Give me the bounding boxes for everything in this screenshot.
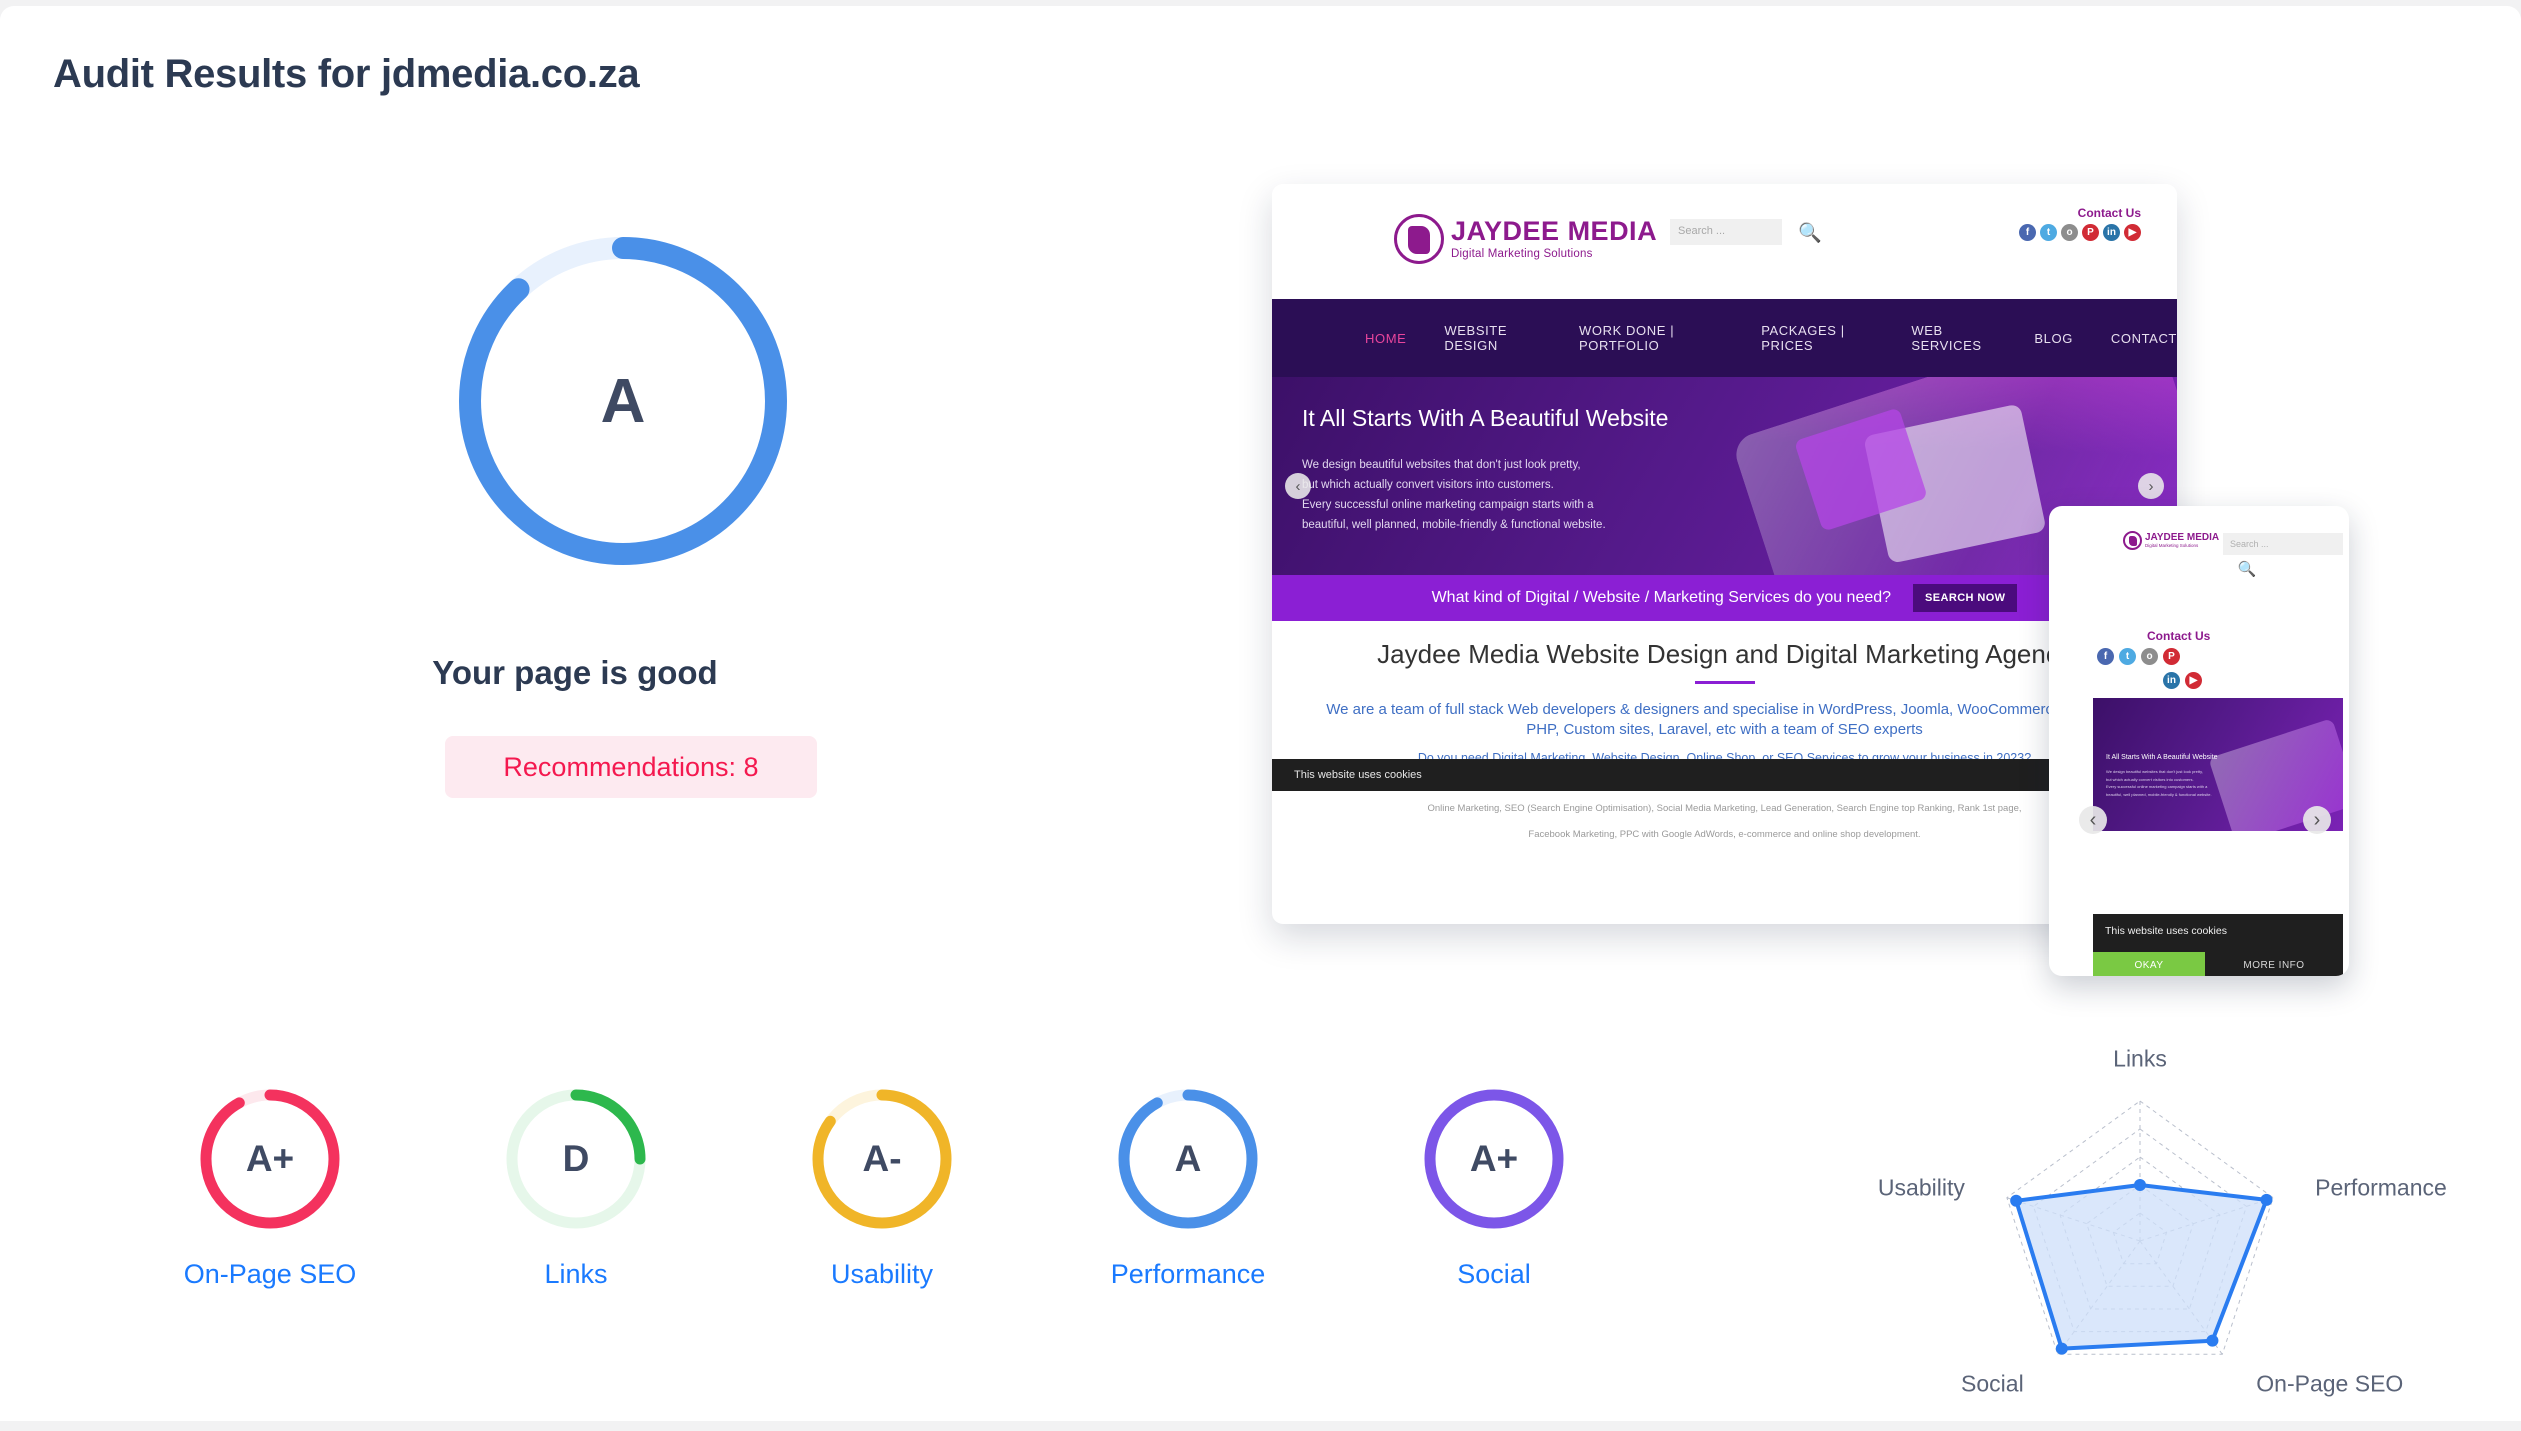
mobile-hero-copy: We design beautiful websites that don't … — [2106, 768, 2212, 798]
sub-gauge-grade: A- — [807, 1084, 957, 1234]
site-search-input[interactable]: Search ... — [1670, 219, 1782, 245]
social-icon-row: ftoPin▶ — [2019, 224, 2141, 241]
sub-gauge-label: Social — [1344, 1259, 1644, 1290]
nav-item-contact[interactable]: CONTACT — [2111, 331, 2177, 346]
sub-score-social[interactable]: A+Social — [1344, 1084, 1644, 1290]
cookie-text: This website uses cookies — [1294, 769, 1422, 781]
facebook-icon[interactable]: f — [2019, 224, 2036, 241]
site-header: JAYDEE MEDIA Digital Marketing Solutions… — [1272, 184, 2177, 299]
site-cta-bar: What kind of Digital / Website / Marketi… — [1272, 575, 2177, 621]
nav-item-packages-prices[interactable]: PACKAGES | PRICES — [1761, 323, 1873, 353]
linkedin-icon[interactable]: in — [2163, 672, 2180, 689]
radar-point-on-page-seo[interactable] — [2206, 1335, 2218, 1347]
site-nav: HOMEWEBSITE DESIGNWORK DONE | PORTFOLIOP… — [1272, 299, 2177, 377]
cookie-banner: This website uses cookies OK — [1272, 759, 2177, 791]
sub-score-links[interactable]: DLinks — [426, 1084, 726, 1290]
linkedin-icon[interactable]: in — [2103, 224, 2120, 241]
sub-score-usability[interactable]: A-Usability — [732, 1084, 1032, 1290]
page-title: Audit Results for jdmedia.co.za — [53, 52, 639, 97]
copy-line: Every successful online marketing campai… — [1302, 495, 1606, 515]
sub-gauge-label: Performance — [1038, 1259, 1338, 1290]
site-logo: JAYDEE MEDIA Digital Marketing Solutions — [1394, 214, 1657, 264]
instagram-icon[interactable]: o — [2141, 648, 2158, 665]
sub-gauge-grade: D — [501, 1084, 651, 1234]
sub-gauge-label: Links — [426, 1259, 726, 1290]
mobile-contact-label: Contact Us — [2147, 629, 2210, 643]
cta-text: What kind of Digital / Website / Marketi… — [1432, 589, 1891, 607]
radar-label-performance: Performance — [2315, 1174, 2447, 1201]
twitter-icon[interactable]: t — [2119, 648, 2136, 665]
mobile-site-content: JAYDEE MEDIA Digital Marketing Solutions… — [2071, 524, 2349, 976]
copy-line: but which actually convert visitors into… — [2106, 776, 2212, 784]
audit-results-card: Audit Results for jdmedia.co.za A Your p… — [0, 6, 2521, 1421]
radar-series-area — [2016, 1185, 2266, 1349]
sub-score-performance[interactable]: APerformance — [1038, 1084, 1338, 1290]
copy-line: We design beautiful websites that don't … — [1302, 455, 1606, 475]
recommendations-badge[interactable]: Recommendations: 8 — [445, 736, 817, 798]
instagram-icon[interactable]: o — [2061, 224, 2078, 241]
sub-score-on-page-seo[interactable]: A+On-Page SEO — [120, 1084, 420, 1290]
mobile-cookie-text: This website uses cookies — [2105, 925, 2227, 937]
mobile-logo-tagline: Digital Marketing Solutions — [2145, 543, 2219, 548]
sub-gauge-ring: A+ — [195, 1084, 345, 1234]
mobile-cookie-banner: This website uses cookies OKAY MORE INFO — [2093, 914, 2343, 976]
sub-gauge-grade: A+ — [195, 1084, 345, 1234]
radar-label-usability: Usability — [1878, 1174, 1965, 1201]
desktop-site-preview[interactable]: JAYDEE MEDIA Digital Marketing Solutions… — [1272, 184, 2177, 924]
body-fineprint-3: Facebook Marketing, PPC with Google AdWo… — [1272, 827, 2177, 843]
body-lead: We are a team of full stack Web develope… — [1272, 700, 2177, 741]
mobile-social-row-1: ftoP — [2097, 648, 2180, 665]
logo-tagline: Digital Marketing Solutions — [1451, 248, 1657, 260]
radar-label-links: Links — [2113, 1046, 2167, 1073]
chevron-left-icon[interactable]: ‹ — [1285, 473, 1311, 499]
mobile-cookie-okay-button[interactable]: OKAY — [2093, 952, 2205, 976]
mobile-chevron-right-icon[interactable]: › — [2303, 806, 2331, 834]
contact-block: Contact Us ftoPin▶ — [2019, 206, 2141, 241]
radar-point-usability[interactable] — [2010, 1195, 2022, 1207]
sub-gauge-label: Usability — [732, 1259, 1032, 1290]
radar-label-social: Social — [1961, 1371, 2024, 1398]
mobile-site-preview[interactable]: JAYDEE MEDIA Digital Marketing Solutions… — [2049, 506, 2349, 976]
mobile-cookie-more-info-button[interactable]: MORE INFO — [2205, 952, 2343, 976]
body-fineprint-2: Online Marketing, SEO (Search Engine Opt… — [1272, 801, 2177, 817]
sub-gauge-ring: A — [1113, 1084, 1263, 1234]
radar-label-on-page-seo: On-Page SEO — [2256, 1371, 2403, 1398]
nav-item-web-services[interactable]: WEB SERVICES — [1911, 323, 1996, 353]
mobile-site-logo: JAYDEE MEDIA Digital Marketing Solutions — [2123, 531, 2219, 550]
nav-item-home[interactable]: HOME — [1365, 331, 1406, 346]
radar-chart: LinksPerformanceOn-Page SEOSocialUsabili… — [1845, 1026, 2505, 1426]
nav-item-blog[interactable]: BLOG — [2034, 331, 2073, 346]
radar-point-links[interactable] — [2134, 1179, 2146, 1191]
site-body: Jaydee Media Website Design and Digital … — [1272, 621, 2177, 839]
mobile-hero-title: It All Starts With A Beautiful Website — [2106, 754, 2218, 761]
facebook-icon[interactable]: f — [2097, 648, 2114, 665]
mobile-search-icon[interactable]: 🔍 — [2223, 555, 2271, 582]
nav-item-work-done-portfolio[interactable]: WORK DONE | PORTFOLIO — [1579, 323, 1723, 353]
sub-gauge-grade: A+ — [1419, 1084, 1569, 1234]
chevron-right-icon[interactable]: › — [2138, 473, 2164, 499]
twitter-icon[interactable]: t — [2040, 224, 2057, 241]
logo-title: JAYDEE MEDIA — [1451, 218, 1657, 245]
hero-title: It All Starts With A Beautiful Website — [1302, 405, 1668, 432]
radar-point-performance[interactable] — [2260, 1194, 2272, 1206]
sub-gauge-grade: A — [1113, 1084, 1263, 1234]
mobile-social-row-2: in▶ — [2163, 672, 2202, 689]
pinterest-icon[interactable]: P — [2082, 224, 2099, 241]
radar-chart-svg — [1845, 1026, 2505, 1426]
overall-score-gauge: A — [443, 221, 803, 581]
search-now-button[interactable]: SEARCH NOW — [1913, 584, 2017, 612]
pinterest-icon[interactable]: P — [2163, 648, 2180, 665]
youtube-icon[interactable]: ▶ — [2185, 672, 2202, 689]
mobile-logo-mark-icon — [2123, 531, 2142, 550]
youtube-icon[interactable]: ▶ — [2124, 224, 2141, 241]
mobile-chevron-left-icon[interactable]: ‹ — [2079, 806, 2107, 834]
copy-line: beautiful, well planned, mobile-friendly… — [2106, 791, 2212, 799]
verdict-text: Your page is good — [0, 654, 1150, 692]
radar-point-social[interactable] — [2056, 1343, 2068, 1355]
sub-gauge-ring: A- — [807, 1084, 957, 1234]
hero-copy: We design beautiful websites that don't … — [1302, 455, 1606, 536]
copy-line: but which actually convert visitors into… — [1302, 475, 1606, 495]
sub-gauge-ring: A+ — [1419, 1084, 1569, 1234]
copy-line: beautiful, well planned, mobile-friendly… — [1302, 515, 1606, 535]
nav-item-website-design[interactable]: WEBSITE DESIGN — [1444, 323, 1541, 353]
copy-line: Every successful online marketing campai… — [2106, 783, 2212, 791]
logo-mark-icon — [1394, 214, 1444, 264]
sub-score-gauges: A+On-Page SEODLinksA-UsabilityAPerforman… — [120, 1084, 1640, 1384]
body-heading: Jaydee Media Website Design and Digital … — [1272, 639, 2177, 670]
heading-underline — [1695, 681, 1755, 684]
mobile-logo-title: JAYDEE MEDIA — [2145, 533, 2219, 543]
overall-grade: A — [443, 221, 803, 581]
sub-gauge-ring: D — [501, 1084, 651, 1234]
mobile-search-input[interactable]: Search ... — [2223, 533, 2343, 555]
search-icon[interactable]: 🔍 — [1789, 215, 1831, 251]
contact-label: Contact Us — [2019, 206, 2141, 220]
sub-gauge-label: On-Page SEO — [120, 1259, 420, 1290]
site-hero: It All Starts With A Beautiful Website W… — [1272, 377, 2177, 575]
copy-line: We design beautiful websites that don't … — [2106, 768, 2212, 776]
